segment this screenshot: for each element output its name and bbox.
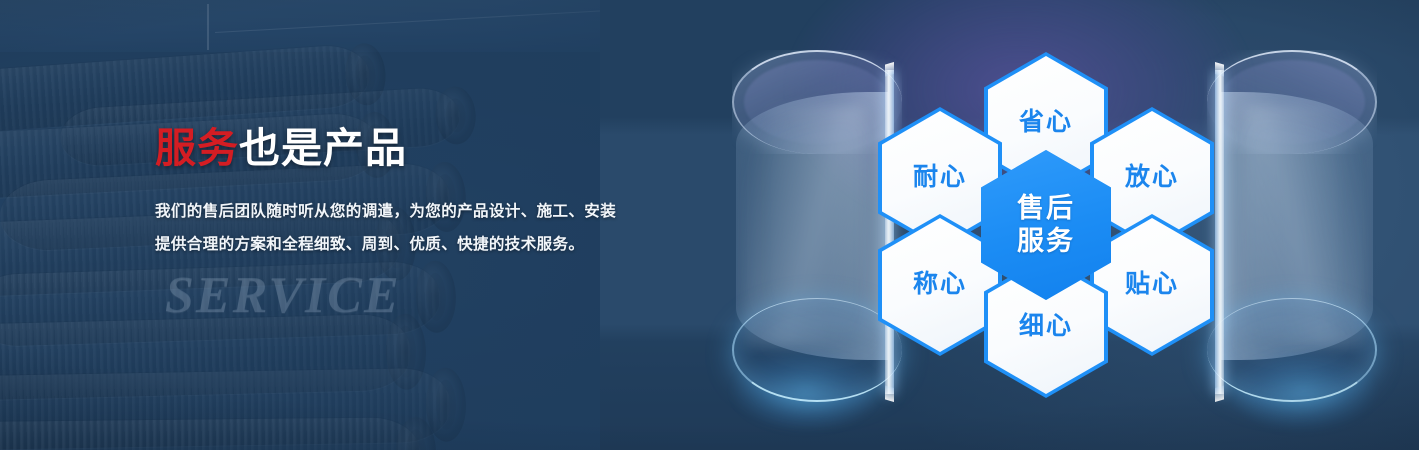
hexagon-center-label: 售后 服务 <box>981 150 1111 300</box>
hexagon-center-label-line1: 售后 <box>1017 192 1075 225</box>
hexagon-center-after-sales-service[interactable]: 售后 服务 <box>981 150 1111 300</box>
service-banner: SERVICE 服务也是产品 我们的售后团队随时听从您的调遣，为您的产品设计、施… <box>0 0 1419 450</box>
edge-vignette <box>0 0 1419 450</box>
hexagon-center-label-line2: 服务 <box>1017 225 1075 258</box>
